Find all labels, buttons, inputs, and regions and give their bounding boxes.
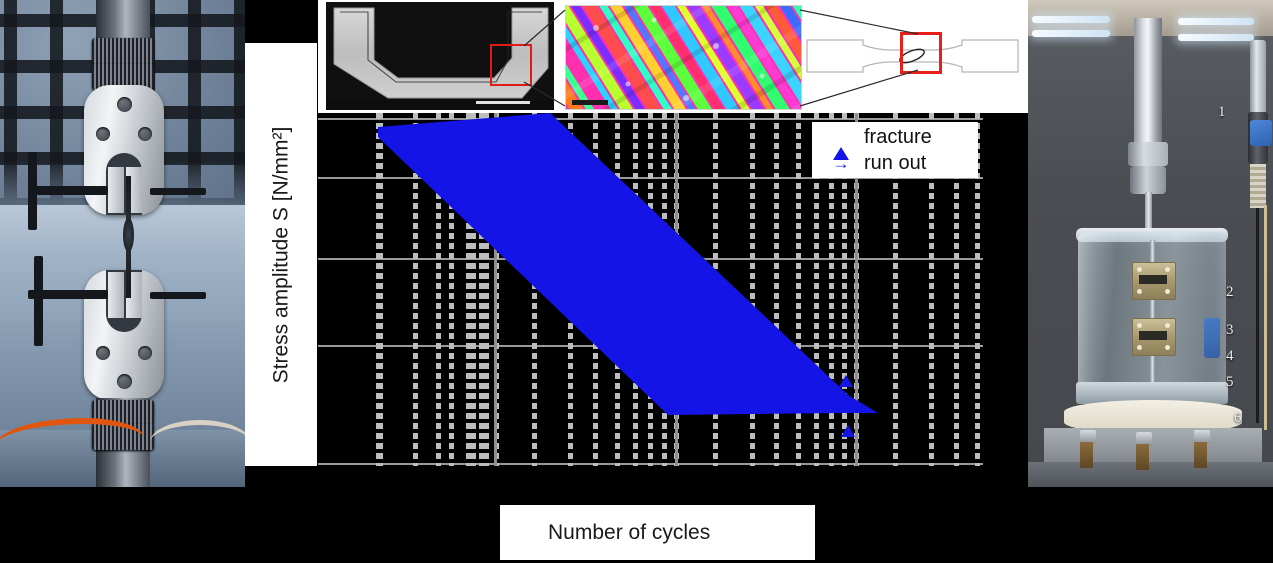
ceiling-lamp xyxy=(1032,30,1110,37)
legend-item-fracture: fracture xyxy=(818,124,978,150)
orange-cable xyxy=(0,418,144,468)
grip-bolt xyxy=(1137,345,1142,350)
roi-red-box-specimen xyxy=(900,32,942,74)
actuator-ram xyxy=(1134,18,1162,148)
y-axis-label: Stress amplitude S [N/mm²] xyxy=(269,126,293,383)
machine-floor xyxy=(1028,462,1273,487)
grip-jaw-left xyxy=(108,167,124,213)
legend-item-run-out: → run out xyxy=(818,150,978,176)
grip-hole xyxy=(96,127,110,141)
reference-electrode-top xyxy=(1250,40,1266,114)
u-profile-cross-section xyxy=(326,2,554,110)
lower-coupler xyxy=(1130,166,1166,194)
fracture-marker xyxy=(826,400,840,412)
ceiling-lamp xyxy=(1178,18,1254,25)
t-handle-lower-bar xyxy=(34,256,43,346)
grip-hole xyxy=(96,346,110,360)
x-axis-label: Number of cycles xyxy=(548,521,710,545)
grip-jaw-left xyxy=(108,272,124,318)
grip-slot xyxy=(1139,331,1167,340)
ceiling-lamp xyxy=(1032,16,1110,23)
sn-curve-chart: fracture → run out xyxy=(318,113,983,466)
ceiling-lamp xyxy=(1178,34,1254,41)
fatigue-test-rig-photo xyxy=(0,0,245,487)
lower-specimen-grip xyxy=(1132,318,1176,356)
triangle-icon xyxy=(818,129,864,146)
callout-2: 2 xyxy=(1226,284,1234,301)
grip-hole xyxy=(138,127,152,141)
callout-4: 4 xyxy=(1226,348,1234,365)
legend-label-fracture: fracture xyxy=(864,126,932,149)
x-axis-label-box: Number of cycles xyxy=(500,505,815,560)
ebsd-grains xyxy=(566,6,801,109)
beige-cable xyxy=(1264,205,1267,430)
callout-3: 3 xyxy=(1226,322,1234,339)
specimen-gauge-section xyxy=(123,218,134,252)
load-cell-coupler xyxy=(1128,142,1168,166)
grip-bolt xyxy=(1137,267,1142,272)
arrow-icon: → xyxy=(818,155,864,172)
upper-actuator-column xyxy=(96,0,150,40)
grip-bolt xyxy=(1137,323,1142,328)
grip-hole xyxy=(117,97,132,112)
white-cable xyxy=(150,420,245,465)
clamp-strap xyxy=(1194,442,1207,468)
callout-5: 5 xyxy=(1226,374,1234,391)
electrode-body xyxy=(1250,164,1266,208)
t-handle-upper-shaft xyxy=(28,186,108,195)
grip-pin-upper xyxy=(150,188,206,195)
blue-cable-sheath xyxy=(1250,120,1272,146)
blue-fitting xyxy=(1204,318,1220,358)
grip-bolt xyxy=(1165,323,1170,328)
upper-clevis-grip xyxy=(84,85,164,215)
corrosion-cell-photo: 1 2 3 4 5 6 xyxy=(1028,0,1273,487)
chart-legend: fracture → run out xyxy=(812,122,978,178)
grip-bolt xyxy=(1165,345,1170,350)
grip-bolt xyxy=(1165,267,1170,272)
callout-6: 6 xyxy=(1234,410,1242,427)
upper-knurled-nut xyxy=(92,38,154,64)
plot-area: fracture → run out xyxy=(318,113,983,466)
black-cable xyxy=(1256,208,1259,423)
upper-specimen-grip xyxy=(1132,262,1176,300)
fracture-marker xyxy=(839,375,853,387)
grip-bolt xyxy=(1165,289,1170,294)
fracture-marker xyxy=(841,425,855,437)
grip-hole xyxy=(138,346,152,360)
t-handle-upper-bar xyxy=(28,152,37,230)
roi-red-box-micrograph xyxy=(490,44,532,86)
clamp-strap xyxy=(1080,442,1093,468)
clamp-strap xyxy=(1136,444,1149,470)
legend-label-run-out: run out xyxy=(864,152,926,175)
micrograph-strip xyxy=(318,0,1028,113)
callout-1: 1 xyxy=(1218,104,1226,121)
ebsd-scale-bar xyxy=(572,100,608,105)
grip-pin-lower xyxy=(150,292,206,299)
y-axis-label-box: Stress amplitude S [N/mm²] xyxy=(245,43,317,466)
grip-hole xyxy=(117,374,132,389)
grip-bolt xyxy=(1137,289,1142,294)
grip-slot xyxy=(1139,275,1167,284)
ebsd-grain-orientation-map xyxy=(565,5,802,110)
fracture-marker xyxy=(842,400,856,412)
